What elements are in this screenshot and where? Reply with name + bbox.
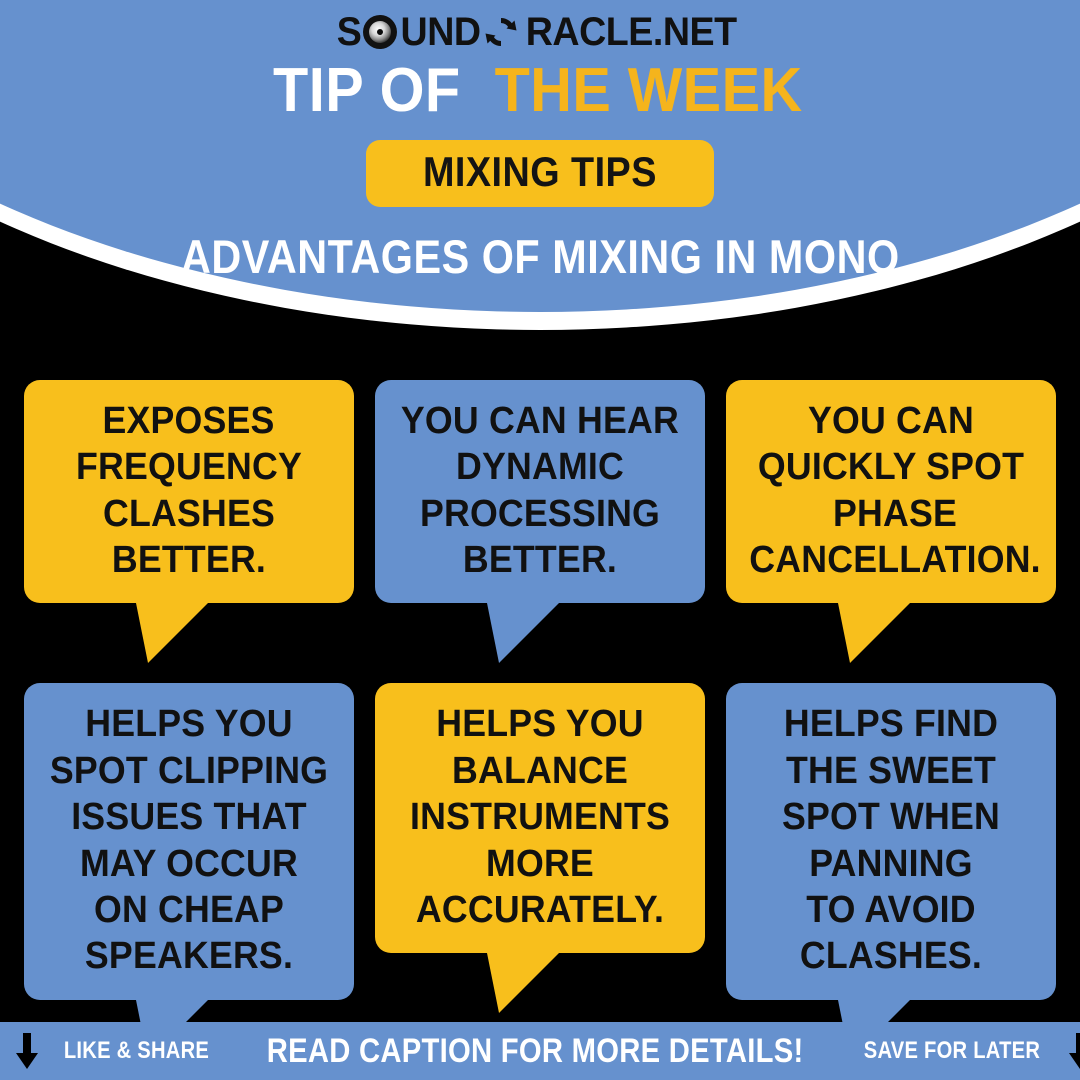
- tip-cell-3: YOU CAN QUICKLY SPOT PHASE CANCELLATION.: [726, 380, 1056, 603]
- circular-arrows-icon: [483, 14, 519, 50]
- bubble-3-line-2: PHASE CANCELLATION.: [749, 491, 1040, 584]
- bubble-5-line-3: ACCURATELY.: [416, 887, 664, 933]
- category-badge[interactable]: MIXING TIPS: [366, 140, 714, 207]
- bubble-6-text: HELPS FIND THE SWEET SPOT WHEN PANNING T…: [740, 701, 1042, 979]
- bubble-5-line-1: HELPS YOU BALANCE: [398, 701, 682, 794]
- bubble-1-line-2: FREQUENCY CLASHES: [47, 444, 331, 537]
- tip-cell-6: HELPS FIND THE SWEET SPOT WHEN PANNING T…: [726, 683, 1056, 999]
- tips-grid: EXPOSES FREQUENCY CLASHES BETTER. YOU CA…: [0, 380, 1080, 1000]
- footer-left-label-wrap: LIKE & SHARE: [50, 1039, 223, 1063]
- arrow-down-icon: [14, 1031, 40, 1071]
- bubble-3-tail: [838, 603, 938, 665]
- tip-of-the-week-title: TIP OFTHE WEEK: [0, 60, 1080, 122]
- logo-text-part3: RACLE.NET: [526, 12, 737, 52]
- bubble-2-line-3: BETTER.: [463, 537, 617, 583]
- footer-center-cta: READ CAPTION FOR MORE DETAILS!: [267, 1034, 804, 1068]
- header-content: S UND RACLE.NET TIP OFTHE WEEK MIXING TI…: [0, 0, 1080, 280]
- bubble-5-line-2: INSTRUMENTS MORE: [398, 794, 682, 887]
- bubble-4[interactable]: HELPS YOU SPOT CLIPPING ISSUES THAT MAY …: [24, 683, 354, 999]
- tips-row-2: HELPS YOU SPOT CLIPPING ISSUES THAT MAY …: [0, 683, 1080, 999]
- tip-cell-5: HELPS YOU BALANCE INSTRUMENTS MORE ACCUR…: [375, 683, 705, 999]
- bubble-3-line-1: YOU CAN QUICKLY SPOT: [749, 398, 1033, 491]
- bubble-2-text: YOU CAN HEAR DYNAMIC PROCESSING BETTER.: [389, 398, 691, 583]
- bubble-2-line-2: DYNAMIC PROCESSING: [398, 444, 682, 537]
- tips-row-1: EXPOSES FREQUENCY CLASHES BETTER. YOU CA…: [0, 380, 1080, 603]
- footer-right-label: SAVE FOR LATER: [864, 1039, 1040, 1063]
- footer-right[interactable]: SAVE FOR LATER: [847, 1031, 1080, 1071]
- footer-center-cta-wrap: READ CAPTION FOR MORE DETAILS!: [223, 1034, 847, 1068]
- category-badge-label: MIXING TIPS: [423, 151, 657, 193]
- bubble-4-line-2: ISSUES THAT MAY OCCUR: [47, 794, 331, 887]
- tip-cell-1: EXPOSES FREQUENCY CLASHES BETTER.: [24, 380, 354, 603]
- bubble-1-line-3: BETTER.: [112, 537, 266, 583]
- footer-left[interactable]: LIKE & SHARE: [14, 1031, 223, 1071]
- footer-left-label: LIKE & SHARE: [64, 1039, 209, 1063]
- page-title: ADVANTAGES OF MIXING IN MONO: [0, 233, 1080, 280]
- bubble-5-tail: [487, 953, 587, 1015]
- bubble-1[interactable]: EXPOSES FREQUENCY CLASHES BETTER.: [24, 380, 354, 603]
- tip-cell-4: HELPS YOU SPOT CLIPPING ISSUES THAT MAY …: [24, 683, 354, 999]
- bubble-3-text: YOU CAN QUICKLY SPOT PHASE CANCELLATION.: [740, 398, 1042, 583]
- bubble-1-text: EXPOSES FREQUENCY CLASHES BETTER.: [38, 398, 340, 583]
- bubble-3[interactable]: YOU CAN QUICKLY SPOT PHASE CANCELLATION.: [726, 380, 1056, 603]
- page-title-text: ADVANTAGES OF MIXING IN MONO: [181, 233, 900, 280]
- bubble-4-line-1: HELPS YOU SPOT CLIPPING: [47, 701, 331, 794]
- bubble-4-line-3: ON CHEAP SPEAKERS.: [47, 887, 331, 980]
- category-badge-wrap: MIXING TIPS: [0, 140, 1080, 207]
- tip-title-gold: THE WEEK: [495, 60, 803, 122]
- bubble-5[interactable]: HELPS YOU BALANCE INSTRUMENTS MORE ACCUR…: [375, 683, 705, 953]
- bubble-1-tail: [136, 603, 236, 665]
- bubble-6-line-2: SPOT WHEN PANNING: [749, 794, 1033, 887]
- bubble-5-text: HELPS YOU BALANCE INSTRUMENTS MORE ACCUR…: [389, 701, 691, 933]
- infographic-canvas: S UND RACLE.NET TIP OFTHE WEEK MIXING TI…: [0, 0, 1080, 1080]
- logo-text-part2: UND: [401, 12, 481, 52]
- bubble-2-line-1: YOU CAN HEAR: [401, 398, 679, 444]
- logo-text-part1: S: [337, 12, 362, 52]
- speaker-cone-icon: [363, 15, 397, 49]
- bubble-1-line-1: EXPOSES: [103, 398, 275, 444]
- footer-right-label-wrap: SAVE FOR LATER: [847, 1039, 1057, 1063]
- bubble-6-line-1: HELPS FIND THE SWEET: [749, 701, 1033, 794]
- arrow-down-icon: [1067, 1031, 1080, 1071]
- tip-cell-2: YOU CAN HEAR DYNAMIC PROCESSING BETTER.: [375, 380, 705, 603]
- tip-title-white: TIP OF: [273, 60, 461, 122]
- bubble-6[interactable]: HELPS FIND THE SWEET SPOT WHEN PANNING T…: [726, 683, 1056, 999]
- bubble-6-line-3: TO AVOID CLASHES.: [749, 887, 1033, 980]
- bubble-2-tail: [487, 603, 587, 665]
- brand-logo[interactable]: S UND RACLE.NET: [0, 8, 1080, 56]
- bubble-4-text: HELPS YOU SPOT CLIPPING ISSUES THAT MAY …: [38, 701, 340, 979]
- footer-bar: LIKE & SHARE READ CAPTION FOR MORE DETAI…: [0, 1022, 1080, 1080]
- bubble-2[interactable]: YOU CAN HEAR DYNAMIC PROCESSING BETTER.: [375, 380, 705, 603]
